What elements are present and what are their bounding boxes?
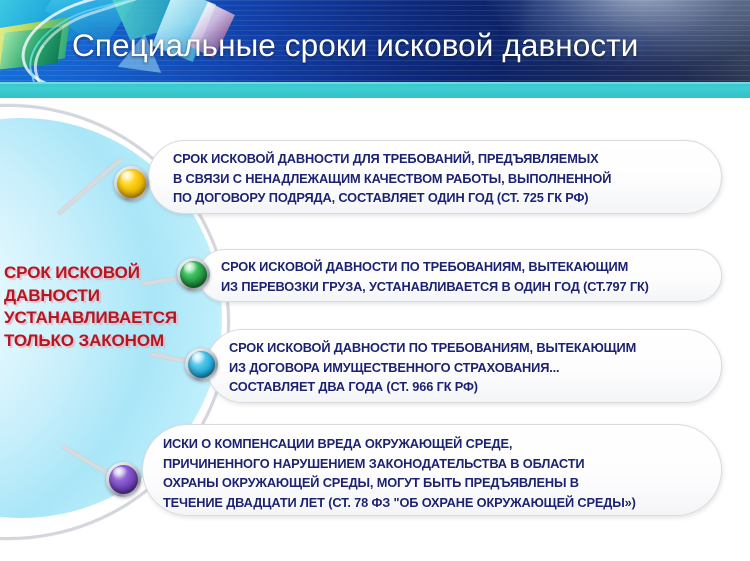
- slide-canvas: Специальные сроки исковой давности СРОК …: [0, 0, 750, 561]
- callout-text-1: СРОК ИСКОВОЙ ДАВНОСТИ ДЛЯ ТРЕБОВАНИЙ, ПР…: [173, 149, 713, 208]
- node-highlight: [192, 352, 207, 363]
- callout-line: СОСТАВЛЯЕТ ДВА ГОДА (СТ. 966 ГК РФ): [229, 377, 715, 397]
- callout-line: В СВЯЗИ С НЕНАДЛЕЖАЩИМ КАЧЕСТВОМ РАБОТЫ,…: [173, 169, 713, 189]
- callout-pill-4[interactable]: ИСКИ О КОМПЕНСАЦИИ ВРЕДА ОКРУЖАЮЩЕЙ СРЕД…: [142, 424, 722, 516]
- callout-line: ИЗ ПЕРЕВОЗКИ ГРУЗА, УСТАНАВЛИВАЕТСЯ В ОД…: [221, 277, 715, 297]
- callout-pill-2[interactable]: СРОК ИСКОВОЙ ДАВНОСТИ ПО ТРЕБОВАНИЯМ, ВЫ…: [198, 249, 722, 302]
- callout-line: ИСКИ О КОМПЕНСАЦИИ ВРЕДА ОКРУЖАЮЩЕЙ СРЕД…: [163, 434, 711, 454]
- callout-line: ТЕЧЕНИЕ ДВАДЦАТИ ЛЕТ (СТ. 78 ФЗ "ОБ ОХРА…: [163, 493, 711, 513]
- callout-line: СРОК ИСКОВОЙ ДАВНОСТИ ПО ТРЕБОВАНИЯМ, ВЫ…: [221, 257, 715, 277]
- callout-pill-1[interactable]: СРОК ИСКОВОЙ ДАВНОСТИ ДЛЯ ТРЕБОВАНИЙ, ПР…: [148, 140, 722, 214]
- callout-line: СРОК ИСКОВОЙ ДАВНОСТИ ПО ТРЕБОВАНИЯМ, ВЫ…: [229, 338, 715, 358]
- callout-line: ОХРАНЫ ОКРУЖАЮЩЕЙ СРЕДЫ, МОГУТ БЫТЬ ПРЕД…: [163, 473, 711, 493]
- node-highlight: [184, 262, 199, 273]
- callout-pill-3[interactable]: СРОК ИСКОВОЙ ДАВНОСТИ ПО ТРЕБОВАНИЯМ, ВЫ…: [206, 329, 722, 403]
- bullet-node-4[interactable]: [106, 462, 141, 497]
- callout-line: ИЗ ДОГОВОРА ИМУЩЕСТВЕННОГО СТРАХОВАНИЯ..…: [229, 358, 715, 378]
- title-banner: Специальные сроки исковой давности: [0, 0, 750, 82]
- page-title: Специальные сроки исковой давности: [72, 20, 750, 70]
- left-caption: СРОК ИСКОВОЙ ДАВНОСТИ УСТАНАВЛИВАЕТСЯ ТО…: [4, 262, 180, 352]
- teal-divider-bar: [0, 82, 750, 98]
- bullet-node-2[interactable]: [177, 258, 210, 291]
- callout-line: ПО ДОГОВОРУ ПОДРЯДА, СОСТАВЛЯЕТ ОДИН ГОД…: [173, 188, 713, 208]
- bullet-node-3[interactable]: [185, 348, 218, 381]
- callout-line: СРОК ИСКОВОЙ ДАВНОСТИ ДЛЯ ТРЕБОВАНИЙ, ПР…: [173, 149, 713, 169]
- callout-text-4: ИСКИ О КОМПЕНСАЦИИ ВРЕДА ОКРУЖАЮЩЕЙ СРЕД…: [163, 434, 711, 512]
- callout-text-2: СРОК ИСКОВОЙ ДАВНОСТИ ПО ТРЕБОВАНИЯМ, ВЫ…: [221, 257, 715, 296]
- callout-text-3: СРОК ИСКОВОЙ ДАВНОСТИ ПО ТРЕБОВАНИЯМ, ВЫ…: [229, 338, 715, 397]
- bullet-node-1[interactable]: [114, 166, 149, 201]
- callout-line: ПРИЧИНЕННОГО НАРУШЕНИЕМ ЗАКОНОДАТЕЛЬСТВА…: [163, 454, 711, 474]
